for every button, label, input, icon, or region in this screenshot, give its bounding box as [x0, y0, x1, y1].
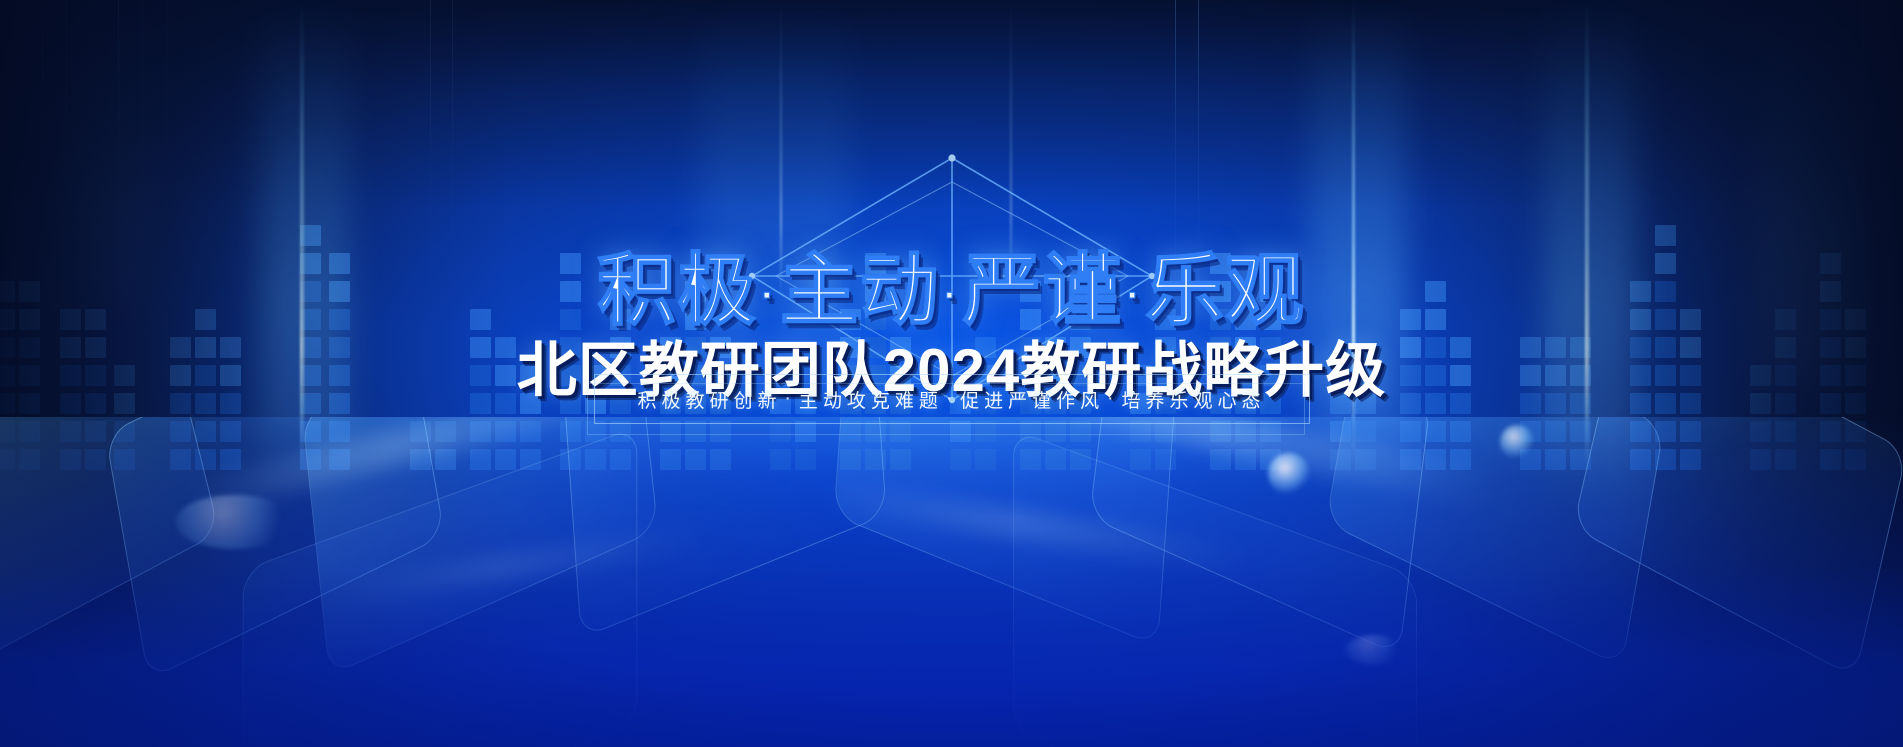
banner-stage: 积极·主动·严谨·乐观 北区教研团队2024教研战略升级 积极教研创新·主动攻克…: [0, 0, 1903, 747]
tagline-item: 培养乐观心态: [1122, 386, 1266, 413]
tagline-bar: 积极教研创新·主动攻克难题·促进严谨作风·培养乐观心态: [594, 374, 1310, 424]
title-separator-dot: ·: [1123, 275, 1146, 317]
tagline-item: 积极教研创新: [637, 386, 781, 413]
tagline-separator: ·: [1104, 388, 1121, 410]
banner-content: 积极·主动·严谨·乐观 北区教研团队2024教研战略升级 积极教研创新·主动攻克…: [0, 0, 1903, 747]
tagline-separator: ·: [943, 388, 960, 410]
tagline-item: 促进严谨作风: [960, 386, 1104, 413]
tagline-item: 主动攻克难题: [799, 386, 943, 413]
tagline-text: 积极教研创新·主动攻克难题·促进严谨作风·培养乐观心态: [637, 386, 1265, 413]
title-separator-dot: ·: [940, 275, 963, 317]
tagline-separator: ·: [781, 388, 798, 410]
title-separator-dot: ·: [758, 275, 781, 317]
